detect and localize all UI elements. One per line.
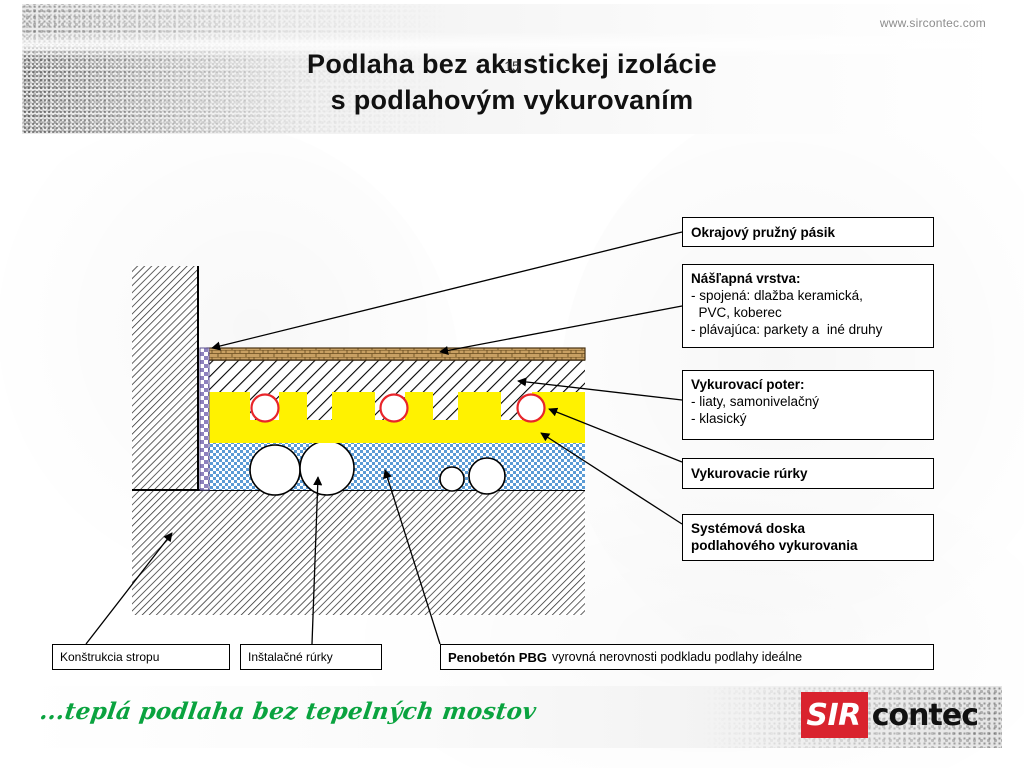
callout-walking-layer-line3: - plávajúca: parkety a iné druhy bbox=[691, 321, 925, 338]
callout-screed[interactable]: Vykurovací poter: - liaty, samonivelačný… bbox=[682, 370, 934, 440]
floor-cross-section-diagram bbox=[0, 0, 1024, 700]
callout-walking-layer-title: Nášľapná vrstva: bbox=[691, 270, 925, 287]
slide-root: www.sircontec.com Podlaha bez akustickej… bbox=[0, 0, 1024, 768]
slide-footer: ...teplá podlaha bez tepelných mostov SI… bbox=[22, 686, 1002, 748]
logo-sir-mark: SIR bbox=[801, 692, 867, 738]
installation-pipe bbox=[300, 441, 354, 495]
logo-contec-text: contec bbox=[868, 692, 978, 738]
callout-heating-pipes-title: Vykurovacie rúrky bbox=[691, 465, 808, 482]
callout-screed-title: Vykurovací poter: bbox=[691, 376, 925, 393]
ceiling-slab-section bbox=[132, 490, 585, 615]
installation-pipe bbox=[440, 467, 464, 491]
sircontec-logo[interactable]: SIR contec bbox=[801, 692, 978, 738]
footer-tagline: ...teplá podlaha bez tepelných mostov bbox=[38, 698, 538, 725]
callout-foam-concrete[interactable]: Penobetón PBG vyrovná nerovnosti podklad… bbox=[440, 644, 934, 670]
heating-pipe bbox=[252, 395, 279, 422]
page-number: 15 bbox=[0, 58, 1024, 74]
callout-edge-strip-title: Okrajový pružný pásik bbox=[691, 224, 835, 241]
edge-strip-layer bbox=[200, 348, 209, 490]
heating-pipe bbox=[518, 395, 545, 422]
callout-screed-line2: - klasický bbox=[691, 410, 925, 427]
callout-system-board-line1: Systémová doska bbox=[691, 520, 925, 537]
leader-edge-strip bbox=[212, 232, 682, 348]
installation-pipe bbox=[469, 458, 505, 494]
callout-walking-layer-line2: PVC, koberec bbox=[691, 304, 925, 321]
callout-heating-pipes[interactable]: Vykurovacie rúrky bbox=[682, 458, 934, 489]
callout-installation-pipes-title: Inštalačné rúrky bbox=[248, 649, 333, 666]
wall-section bbox=[132, 266, 198, 490]
foam-concrete-layer bbox=[207, 441, 585, 495]
callout-ceiling-structure[interactable]: Konštrukcia stropu bbox=[52, 644, 230, 670]
callout-walking-layer[interactable]: Nášľapná vrstva: - spojená: dlažba keram… bbox=[682, 264, 934, 348]
callout-ceiling-structure-title: Konštrukcia stropu bbox=[60, 649, 159, 666]
callout-system-board[interactable]: Systémová doska podlahového vykurovania bbox=[682, 514, 934, 561]
callout-walking-layer-line1: - spojená: dlažba keramická, bbox=[691, 287, 925, 304]
leader-walking-layer bbox=[440, 306, 682, 352]
callout-edge-strip[interactable]: Okrajový pružný pásik bbox=[682, 217, 934, 247]
walking-layer bbox=[207, 348, 585, 360]
heating-pipe bbox=[381, 395, 408, 422]
installation-pipe bbox=[250, 445, 300, 495]
callout-foam-concrete-description: vyrovná nerovnosti podkladu podlahy ideá… bbox=[552, 649, 802, 666]
callout-system-board-line2: podlahového vykurovania bbox=[691, 537, 925, 554]
callout-installation-pipes[interactable]: Inštalačné rúrky bbox=[240, 644, 382, 670]
callout-foam-concrete-brand: Penobetón PBG bbox=[448, 649, 547, 666]
callout-screed-line1: - liaty, samonivelačný bbox=[691, 393, 925, 410]
